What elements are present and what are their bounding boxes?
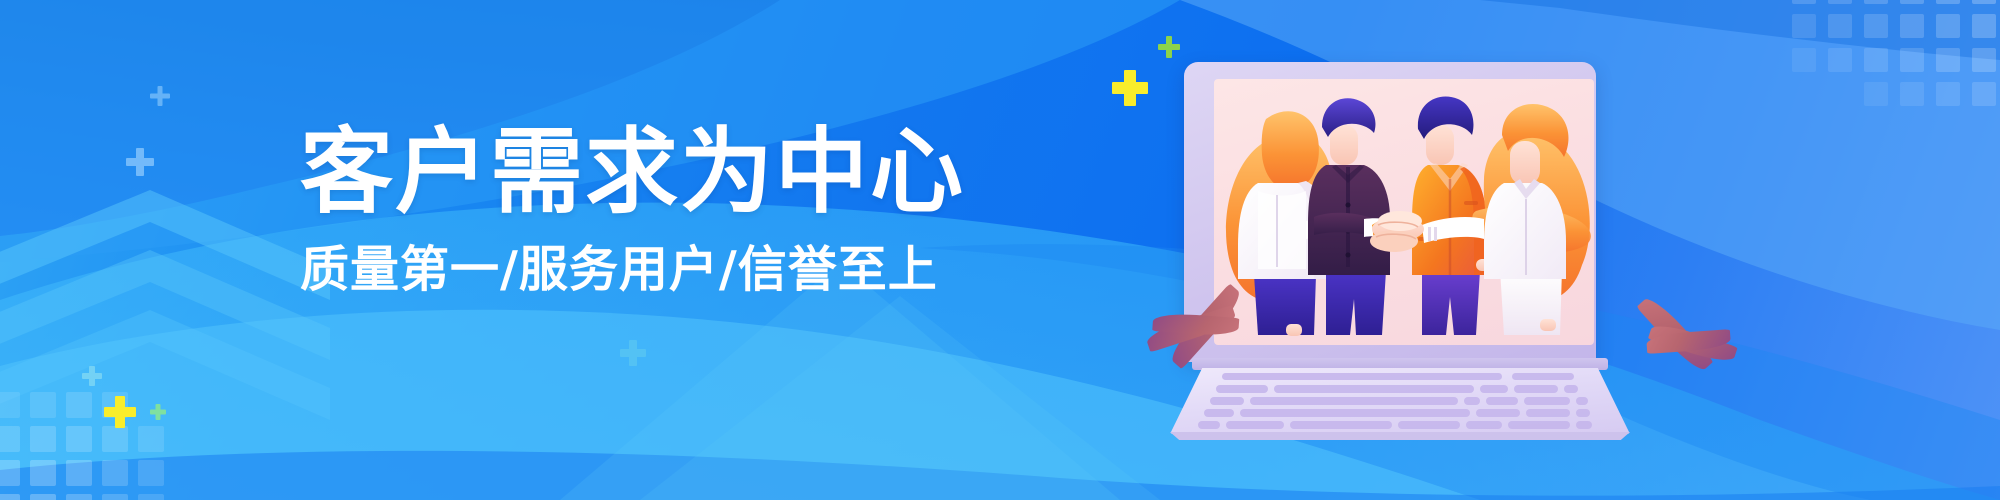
laptop-screen (1214, 79, 1594, 345)
plus-green-small (1158, 36, 1180, 58)
promo-banner: 客户需求为中心 质量第一/服务用户/信誉至上 (0, 0, 2000, 500)
laptop-keyboard (1170, 368, 1630, 434)
laptop-front-lip (1170, 432, 1630, 440)
laptop-lid (1184, 62, 1596, 362)
team-handstack-artwork (1214, 79, 1594, 345)
plus-cyan-mid (620, 340, 646, 366)
plus-white-a (150, 86, 170, 106)
plus-yellow-mid (104, 396, 136, 428)
page-title: 客户需求为中心 (300, 126, 1060, 219)
laptop-illustration (1170, 62, 1630, 442)
dot-grid-top-right (1792, 0, 2000, 110)
plus-cyan-small (150, 404, 166, 420)
laptop-base (1170, 358, 1630, 442)
plus-cyan-faint (82, 366, 102, 386)
headline-group: 客户需求为中心 质量第一/服务用户/信誉至上 (300, 126, 1060, 294)
page-subtitle: 质量第一/服务用户/信誉至上 (300, 245, 1060, 294)
plus-yellow-large (1112, 70, 1148, 106)
plus-white-b (126, 148, 154, 176)
